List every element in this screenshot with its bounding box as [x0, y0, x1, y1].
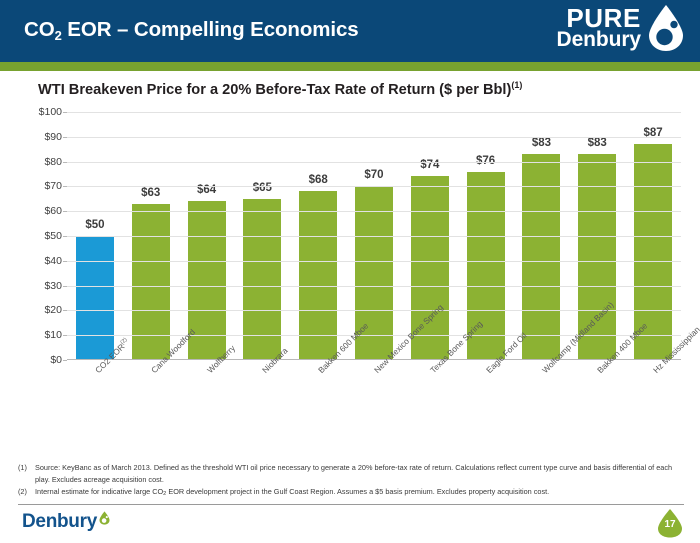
y-axis-tick-label: $10 [44, 329, 62, 341]
x-axis-label-slot: New Mexico Bone Spring [346, 362, 402, 462]
page-title-co: CO [24, 18, 55, 41]
y-axis-tick-label: $60 [44, 205, 62, 217]
pure-denbury-logo-text: PURE Denbury [557, 6, 641, 50]
chart-title: WTI Breakeven Price for a 20% Before-Tax… [38, 80, 522, 98]
header-green-stripe [0, 62, 700, 71]
footnotes-block: (1) Source: KeyBanc as of March 2013. De… [18, 462, 684, 498]
y-axis-tickmark [63, 112, 67, 113]
y-axis-tick-label: $90 [44, 131, 62, 143]
y-axis-labels: $100$90$80$70$60$50$40$30$20$10$0 [18, 112, 62, 360]
y-axis-tickmark [63, 335, 67, 336]
footnote-2-subscript: 2 [163, 491, 166, 497]
chart-plot-area: $100$90$80$70$60$50$40$30$20$10$0 $50$63… [0, 112, 700, 462]
y-axis-tick-label: $20 [44, 304, 62, 316]
x-axis-label-slot: Bakken 400 Mboe [569, 362, 625, 462]
water-droplet-icon [646, 4, 686, 52]
gridline [67, 137, 681, 138]
bar-value-label: $63 [141, 187, 160, 199]
footer-divider [18, 504, 684, 505]
y-axis-tickmark [63, 162, 67, 163]
slide-header-bar: CO2 EOR – Compelling Economics PURE Denb… [0, 0, 700, 62]
y-axis-tickmark [63, 261, 67, 262]
x-axis-label-slot: Texas Bone Spring [402, 362, 458, 462]
y-axis-tick-label: $50 [44, 230, 62, 242]
footnote-2-text: Internal estimate for indicative large C… [35, 486, 684, 498]
x-axis-category-labels: CO2 EOR(2)Cana WoodfordWolfberryNiobrara… [67, 362, 681, 462]
x-axis-label-slot: CO2 EOR(2) [67, 362, 123, 462]
x-axis-label-slot: Eagle Ford Oil [458, 362, 514, 462]
bar-value-label: $83 [532, 137, 551, 149]
gridline [67, 335, 681, 336]
footnote-1-text: Source: KeyBanc as of March 2013. Define… [35, 462, 684, 486]
footnote-2-text-a: Internal estimate for indicative large C… [35, 487, 163, 496]
bar[interactable]: $63 [132, 204, 170, 360]
y-axis-tickmark [63, 211, 67, 212]
y-axis-tick-label: $0 [50, 354, 62, 366]
page-title-rest: EOR – Compelling Economics [62, 18, 359, 41]
y-axis-tickmark [63, 286, 67, 287]
y-axis-tickmark [63, 360, 67, 361]
y-axis-tickmark [63, 186, 67, 187]
bar-value-label: $68 [309, 174, 328, 186]
bar-value-label: $76 [476, 155, 495, 167]
bar[interactable]: $83 [522, 154, 560, 360]
y-axis-tick-label: $30 [44, 280, 62, 292]
x-axis-label-slot: Hz Mississippian [625, 362, 681, 462]
logo-pure-word: PURE [557, 6, 641, 30]
page-title-subscript: 2 [55, 28, 62, 43]
footnote-2-text-b: EOR development project in the Gulf Coas… [166, 487, 549, 496]
bar-value-label: $70 [364, 169, 383, 181]
x-axis-label-slot: Cana Woodford [123, 362, 179, 462]
footnote-1-number: (1) [18, 462, 35, 474]
x-axis-label-slot: Wolfberry [179, 362, 235, 462]
footnote-2-number: (2) [18, 486, 35, 498]
footer-droplet-icon [99, 511, 110, 525]
y-axis-tick-label: $70 [44, 180, 62, 192]
footer-logo: Denbury [22, 512, 110, 531]
logo-denbury-word: Denbury [557, 30, 641, 50]
y-axis-tickmark [63, 236, 67, 237]
pure-denbury-logo: PURE Denbury [557, 4, 686, 52]
chart-title-footnote-marker: (1) [511, 80, 522, 90]
chart-title-text: WTI Breakeven Price for a 20% Before-Tax… [38, 82, 511, 98]
gridline [67, 162, 681, 163]
gridline [67, 211, 681, 212]
gridline [67, 186, 681, 187]
y-axis-tickmark [63, 310, 67, 311]
y-axis-tickmark [63, 137, 67, 138]
y-axis-tick-label: $80 [44, 156, 62, 168]
footnote-1: (1) Source: KeyBanc as of March 2013. De… [18, 462, 684, 486]
page-number-badge: 17 [656, 508, 684, 538]
x-axis-label-slot: Bakken 600 Mboe [290, 362, 346, 462]
bar-value-label: $65 [253, 182, 272, 194]
gridline [67, 261, 681, 262]
x-axis-label-slot: Niobrara [234, 362, 290, 462]
gridline [67, 286, 681, 287]
bar-value-label: $50 [85, 219, 104, 231]
page-title: CO2 EOR – Compelling Economics [24, 18, 359, 42]
page-number-text: 17 [656, 508, 684, 538]
gridline [67, 310, 681, 311]
bar-value-label: $83 [588, 137, 607, 149]
footnote-2: (2) Internal estimate for indicative lar… [18, 486, 684, 498]
gridline [67, 236, 681, 237]
y-axis-tick-label: $100 [39, 106, 62, 118]
footer-brand-text: Denbury [22, 512, 97, 531]
gridline [67, 112, 681, 113]
y-axis-tick-label: $40 [44, 255, 62, 267]
bar[interactable]: $50 [76, 236, 114, 360]
x-axis-label-slot: Wolfcamp (Midland Basin) [514, 362, 570, 462]
